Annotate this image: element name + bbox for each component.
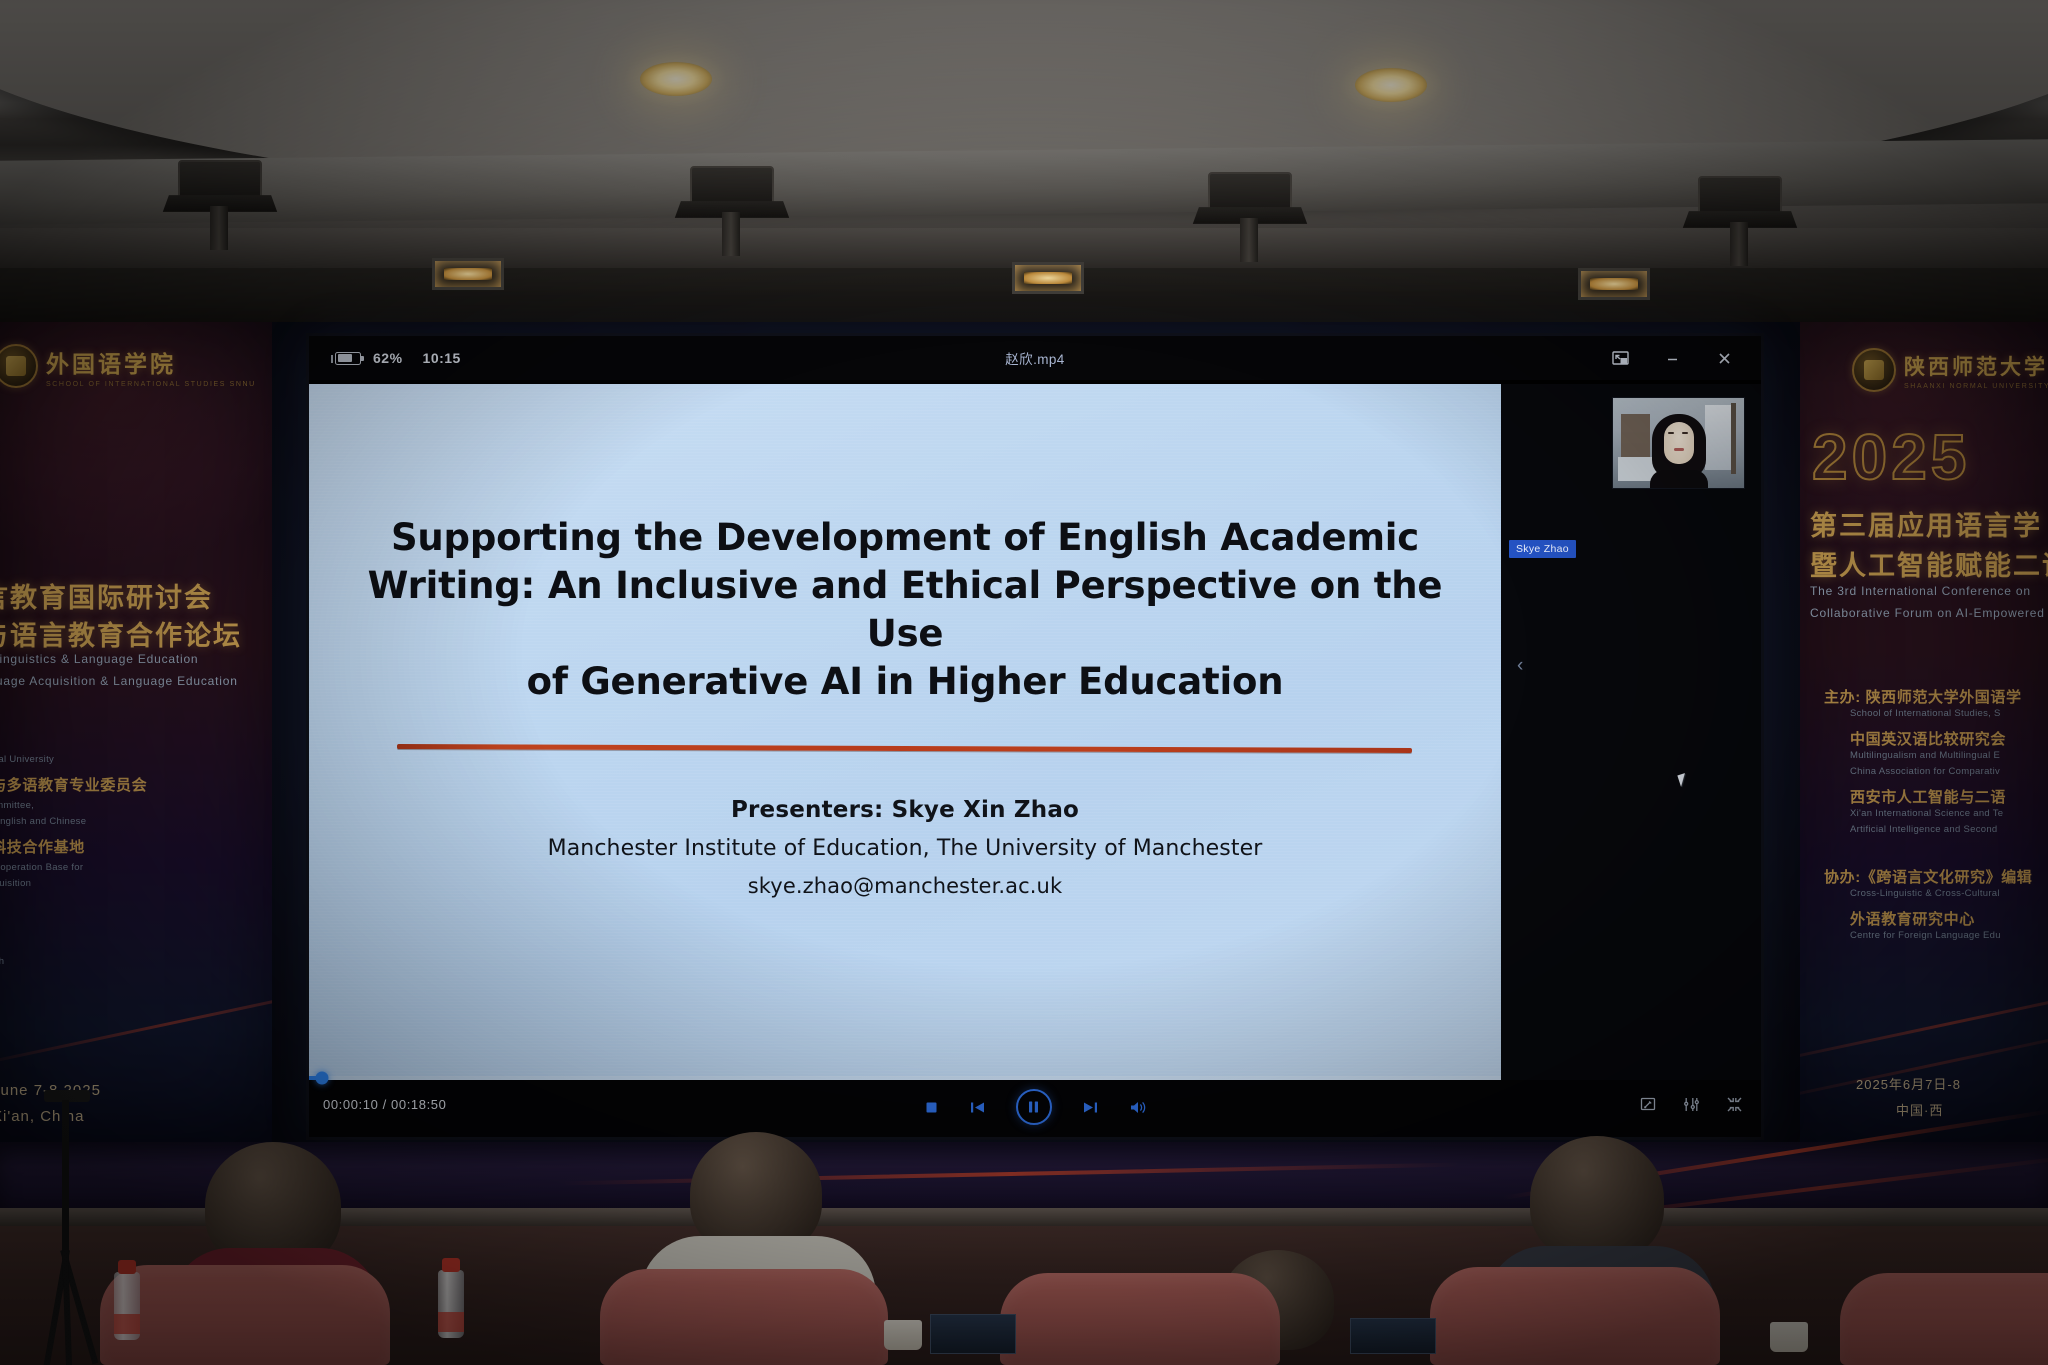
audience-head xyxy=(1530,1136,1664,1262)
seek-handle[interactable] xyxy=(316,1072,329,1085)
audience-chair xyxy=(1840,1273,2048,1365)
battery-percent: 62% xyxy=(373,350,403,366)
school-logo-en: SCHOOL OF INTERNATIONAL STUDIES SNNU xyxy=(46,381,256,388)
stop-button[interactable] xyxy=(924,1100,939,1115)
banner-right-org-en-3b: Artificial Intelligence and Second xyxy=(1850,824,1998,835)
slide-presenter-block: Presenters: Skye Xin Zhao Manchester Ins… xyxy=(365,797,1445,898)
school-logo-left: 外国语学院 SCHOOL OF INTERNATIONAL STUDIES SN… xyxy=(0,344,256,388)
stage-light-fixture xyxy=(1680,176,1800,272)
stage-light-fixture xyxy=(1190,172,1310,268)
slide-email: skye.zhao@manchester.ac.uk xyxy=(365,874,1445,898)
player-control-bar[interactable]: 00:00:10 / 00:18:50 xyxy=(309,1080,1761,1137)
time-display: 00:00:10 / 00:18:50 xyxy=(323,1097,446,1112)
mouse-cursor xyxy=(1677,773,1688,787)
window-file-title: 赵欣.mp4 xyxy=(309,348,1761,368)
status-cluster: 62% 10:15 xyxy=(309,350,461,366)
name-plate xyxy=(930,1314,1016,1354)
participant-name-badge: Skye Zhao xyxy=(1509,540,1576,558)
window-controls xyxy=(1609,347,1761,369)
banner-left-org-en-0: Normal University xyxy=(0,754,54,765)
settings-sliders-icon[interactable] xyxy=(1683,1096,1700,1113)
recessed-spotlight xyxy=(432,258,504,290)
snapshot-icon[interactable] xyxy=(1640,1096,1657,1113)
banner-right-org-en-2a: Multilingualism and Multilingual E xyxy=(1850,750,2000,761)
banner-left-org-en-2a: gy Cooperation Base for xyxy=(0,862,83,873)
banner-right-org-en-1: School of International Studies, S xyxy=(1850,708,2001,719)
slide-presenter-name: Presenters: Skye Xin Zhao xyxy=(365,797,1445,823)
banner-left-heading-cn-2: 得与语言教育合作论坛 xyxy=(0,614,242,653)
school-logo-cn: 外国语学院 xyxy=(46,345,256,379)
banner-left-org-en-3: search xyxy=(0,956,4,967)
banner-right-heading-cn-2: 暨人工智能赋能二语 xyxy=(1810,544,2048,583)
school-seal-icon xyxy=(0,344,38,388)
banner-right-org-cn-5: 外语教育研究中心 xyxy=(1850,908,1975,929)
banner-left-org-cn-2: 国际科技合作基地 xyxy=(0,836,85,857)
name-plate xyxy=(1350,1318,1436,1354)
projection-screen-media-player[interactable]: 62% 10:15 赵欣.mp4 xyxy=(309,336,1761,1137)
banner-right-org-en-5: Centre for Foreign Language Edu xyxy=(1850,930,2001,941)
conference-banner-left: 外国语学院 SCHOOL OF INTERNATIONAL STUDIES SN… xyxy=(0,322,272,1142)
banner-right-year: 2025 xyxy=(1812,420,1970,494)
player-title-bar: 62% 10:15 赵欣.mp4 xyxy=(309,336,1761,380)
university-seal-icon xyxy=(1852,348,1896,392)
conference-banner-right: 陕西师范大学 SHAANXI NORMAL UNIVERSITY 2025 第三… xyxy=(1800,322,2048,1142)
banner-right-org-cn-1: 主办: 陕西师范大学外国语学 xyxy=(1824,686,2022,707)
panel-collapse-chevron-icon[interactable]: ‹ xyxy=(1517,656,1523,675)
paper-cup xyxy=(884,1320,922,1350)
minimize-icon[interactable] xyxy=(1661,347,1683,369)
webcam-thumbnail[interactable] xyxy=(1612,397,1745,489)
webcam-person xyxy=(1652,414,1706,488)
banner-left-org-cn-1: 能力与多语教育专业委员会 xyxy=(0,774,147,795)
system-clock: 10:15 xyxy=(423,350,461,366)
slide-title-line-2: Writing: An Inclusive and Ethical Perspe… xyxy=(365,562,1445,658)
participant-side-panel[interactable]: Skye Zhao ‹ xyxy=(1501,384,1761,1080)
university-logo-en: SHAANXI NORMAL UNIVERSITY xyxy=(1904,383,2048,390)
university-logo-cn: 陕西师范大学 xyxy=(1904,351,2048,381)
slide-title-line-1: Supporting the Development of English Ac… xyxy=(365,514,1445,562)
banner-right-org-cn-4: 协办:《跨语言文化研究》编辑 xyxy=(1824,866,2032,887)
player-right-controls xyxy=(1640,1096,1743,1113)
volume-button[interactable] xyxy=(1129,1100,1147,1115)
audience-chair xyxy=(1430,1267,1720,1365)
recessed-spotlight xyxy=(1578,268,1650,300)
battery-icon xyxy=(335,352,361,365)
banner-right-org-cn-2: 中国英汉语比较研究会 xyxy=(1850,728,2006,749)
conference-room-scene: 外国语学院 SCHOOL OF INTERNATIONAL STUDIES SN… xyxy=(0,0,2048,1365)
close-icon[interactable] xyxy=(1713,347,1735,369)
camera-tripod xyxy=(18,1090,138,1365)
banner-left-org-en-1b: s of English and Chinese xyxy=(0,816,86,827)
stage-light-fixture xyxy=(672,166,792,262)
banner-right-date-cn-1: 2025年6月7日-8 xyxy=(1856,1074,1961,1093)
playback-controls xyxy=(309,1089,1761,1125)
banner-left-heading-en-2: Language Acquisition & Language Educatio… xyxy=(0,674,238,688)
banner-right-date-cn-2: 中国·西 xyxy=(1896,1100,1943,1119)
paper-cup xyxy=(1770,1322,1808,1352)
ceiling-downlight xyxy=(640,62,712,96)
banner-right-org-en-4: Cross-Linguistic & Cross-Cultural xyxy=(1850,888,2000,899)
water-bottle xyxy=(438,1270,464,1338)
slide-title: Supporting the Development of English Ac… xyxy=(365,514,1445,706)
pause-button[interactable] xyxy=(1016,1089,1052,1125)
university-logo-right: 陕西师范大学 SHAANXI NORMAL UNIVERSITY xyxy=(1852,348,2048,392)
banner-left-heading-cn-1: 语言教育国际研讨会 xyxy=(0,576,213,615)
ceiling xyxy=(0,0,2048,330)
banner-right-heading-en-1: The 3rd International Conference on xyxy=(1810,584,2031,598)
banner-right-org-en-2b: China Association for Comparativ xyxy=(1850,766,2000,777)
audience-chair xyxy=(1000,1273,1280,1365)
audience-chair xyxy=(600,1269,888,1365)
recessed-spotlight xyxy=(1012,262,1084,294)
seek-bar[interactable] xyxy=(309,1076,1501,1080)
banner-left-heading-en-1: lied Linguistics & Language Education xyxy=(0,652,198,666)
slide-title-line-3: of Generative AI in Higher Education xyxy=(365,658,1445,706)
exit-fullscreen-icon[interactable] xyxy=(1726,1096,1743,1113)
slide-divider-rule xyxy=(397,744,1412,753)
stage-light-fixture xyxy=(160,160,280,256)
banner-right-org-en-3a: Xi'an International Science and Te xyxy=(1850,808,2003,819)
banner-right-heading-cn-1: 第三届应用语言学 xyxy=(1810,504,2042,543)
banner-right-org-cn-3: 西安市人工智能与二语 xyxy=(1850,786,2006,807)
banner-left-org-en-2b: e Acquisition xyxy=(0,878,31,889)
picture-in-picture-icon[interactable] xyxy=(1609,347,1631,369)
slide-affiliation: Manchester Institute of Education, The U… xyxy=(365,836,1445,861)
ceiling-downlight xyxy=(1355,68,1427,102)
banner-right-heading-en-2: Collaborative Forum on AI-Empowered Se xyxy=(1810,606,2048,620)
audience-chair xyxy=(100,1265,390,1365)
previous-button[interactable] xyxy=(969,1100,986,1115)
banner-left-org-en-1a: n Committee, xyxy=(0,800,34,811)
next-button[interactable] xyxy=(1082,1100,1099,1115)
presentation-slide-video[interactable]: Supporting the Development of English Ac… xyxy=(309,384,1501,1080)
